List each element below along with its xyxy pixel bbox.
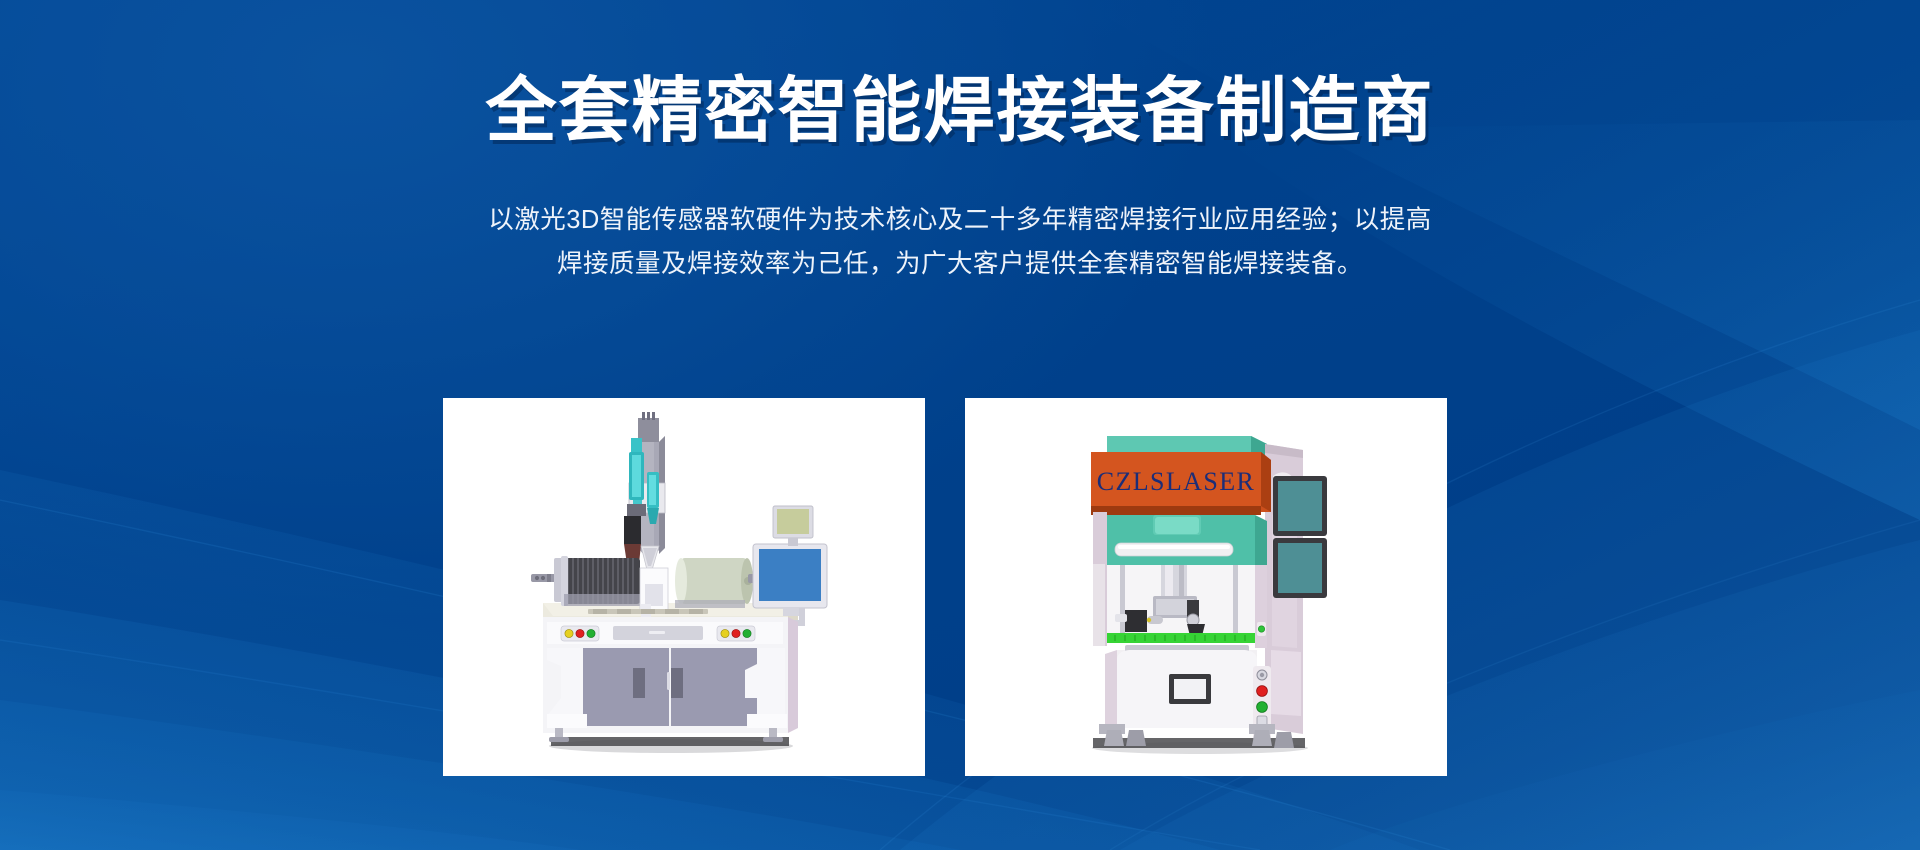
hero-banner: 全套精密智能焊接装备制造商 以激光3D智能传感器软硬件为技术核心及二十多年精密焊…: [0, 0, 1920, 850]
subtitle: 以激光3D智能传感器软硬件为技术核心及二十多年精密焊接行业应用经验；以提高 焊接…: [410, 198, 1510, 286]
product-card-precision-laser-welding-workstation[interactable]: 精密激光焊接工作站: [443, 398, 925, 776]
headline-block: 全套精密智能焊接装备制造商 以激光3D智能传感器软硬件为技术核心及二十多年精密焊…: [0, 0, 1920, 286]
brand-label: CZLSLASER: [1097, 467, 1256, 496]
welding-workstation-illustration: [443, 398, 925, 776]
czlslaser-machine-illustration: CZLSLASER: [965, 398, 1447, 776]
product-card-czlslaser-cabinet-welding-machine[interactable]: CZLSLASER 精密焊接机: [965, 398, 1447, 776]
page-title: 全套精密智能焊接装备制造商: [0, 72, 1920, 152]
subtitle-line-1: 以激光3D智能传感器软硬件为技术核心及二十多年精密焊接行业应用经验；以提高: [410, 198, 1510, 242]
subtitle-line-2: 焊接质量及焊接效率为己任，为广大客户提供全套精密智能焊接装备。: [410, 242, 1510, 286]
product-image-gallery: 精密激光焊接工作站: [443, 398, 1447, 776]
